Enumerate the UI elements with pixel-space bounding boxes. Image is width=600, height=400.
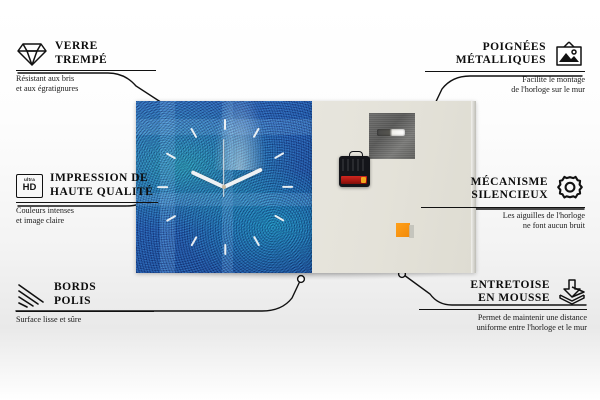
infographic-canvas: VERRE TREMPÉ Résistant aux bris et aux é…: [0, 0, 600, 400]
feature-title: EN MOUSSE: [470, 292, 550, 306]
feature-desc: de l'horloge sur le mur: [425, 85, 585, 95]
feature-tempered-glass[interactable]: VERRE TREMPÉ Résistant aux bris et aux é…: [16, 40, 156, 94]
metal-grain: [369, 113, 415, 159]
feature-title: BORDS: [54, 281, 96, 295]
feature-desc: et aux égratignures: [16, 84, 156, 94]
feature-desc: Résistant aux bris: [16, 74, 156, 84]
feature-desc: Surface lisse et sûre: [16, 315, 154, 325]
feature-print-quality[interactable]: ultra HD IMPRESSION DE HAUTE QUALITÉ Cou…: [16, 172, 158, 226]
hand-cap: [222, 185, 226, 189]
feature-title: MÉTALLIQUES: [456, 54, 546, 68]
clock-mechanism: [339, 156, 370, 187]
feature-title: TREMPÉ: [55, 54, 107, 68]
metal-hanger-plate: [369, 113, 415, 159]
feature-foam-spacer[interactable]: ENTRETOISE EN MOUSSE Permet de maintenir…: [419, 278, 587, 333]
foam-spacer: [396, 223, 410, 237]
feature-title: IMPRESSION DE: [50, 172, 153, 186]
ultra-hd-icon: ultra HD: [16, 174, 43, 198]
feature-title: MÉCANISME: [471, 176, 548, 190]
hour-mark: [157, 186, 168, 188]
feature-title: POIGNÉES: [456, 41, 546, 55]
feature-divider: [421, 207, 585, 208]
feature-desc: Les aiguilles de l'horloge: [421, 211, 585, 221]
feature-desc: Facilite le montage: [425, 75, 585, 85]
mechanism-hook: [349, 151, 363, 159]
gear-icon: [555, 174, 585, 204]
feature-divider: [16, 70, 156, 71]
feature-divider: [16, 311, 154, 312]
feature-metal-handles[interactable]: POIGNÉES MÉTALLIQUES Facilite le montage…: [425, 40, 585, 95]
feature-divider: [419, 309, 587, 310]
feature-desc: Permet de maintenir une distance: [419, 313, 587, 323]
ultra-hd-large-text: HD: [23, 183, 37, 193]
hanger-keyhole-slot: [377, 129, 405, 136]
feature-title: VERRE: [55, 40, 107, 54]
feature-title: HAUTE QUALITÉ: [50, 186, 153, 200]
feature-desc: uniforme entre l'horloge et le mur: [419, 323, 587, 333]
feature-desc: ne font aucun bruit: [421, 221, 585, 231]
hour-mark: [224, 244, 226, 255]
face-glow: [213, 101, 266, 170]
feature-title: POLIS: [54, 295, 96, 309]
feature-desc: et image claire: [16, 216, 158, 226]
hanging-frame-icon: [553, 40, 585, 68]
feature-divider: [16, 202, 158, 203]
battery: [341, 176, 367, 184]
diamond-icon: [16, 41, 48, 67]
hour-mark: [224, 119, 226, 130]
clock-face-blue-waves: [136, 101, 312, 273]
feature-title: ENTRETOISE: [470, 279, 550, 293]
feature-divider: [425, 71, 585, 72]
feature-desc: Couleurs intenses: [16, 206, 158, 216]
feature-silent-mechanism[interactable]: MÉCANISME SILENCIEUX Les aiguilles de l'…: [421, 174, 585, 231]
mechanism-label: [342, 159, 367, 171]
hour-mark: [282, 186, 293, 188]
feature-title: SILENCIEUX: [471, 189, 548, 203]
polished-edges-icon: [16, 282, 47, 308]
arrow-down-pad-icon: [557, 278, 587, 306]
feature-polished-edges[interactable]: BORDS POLIS Surface lisse et sûre: [16, 281, 154, 325]
